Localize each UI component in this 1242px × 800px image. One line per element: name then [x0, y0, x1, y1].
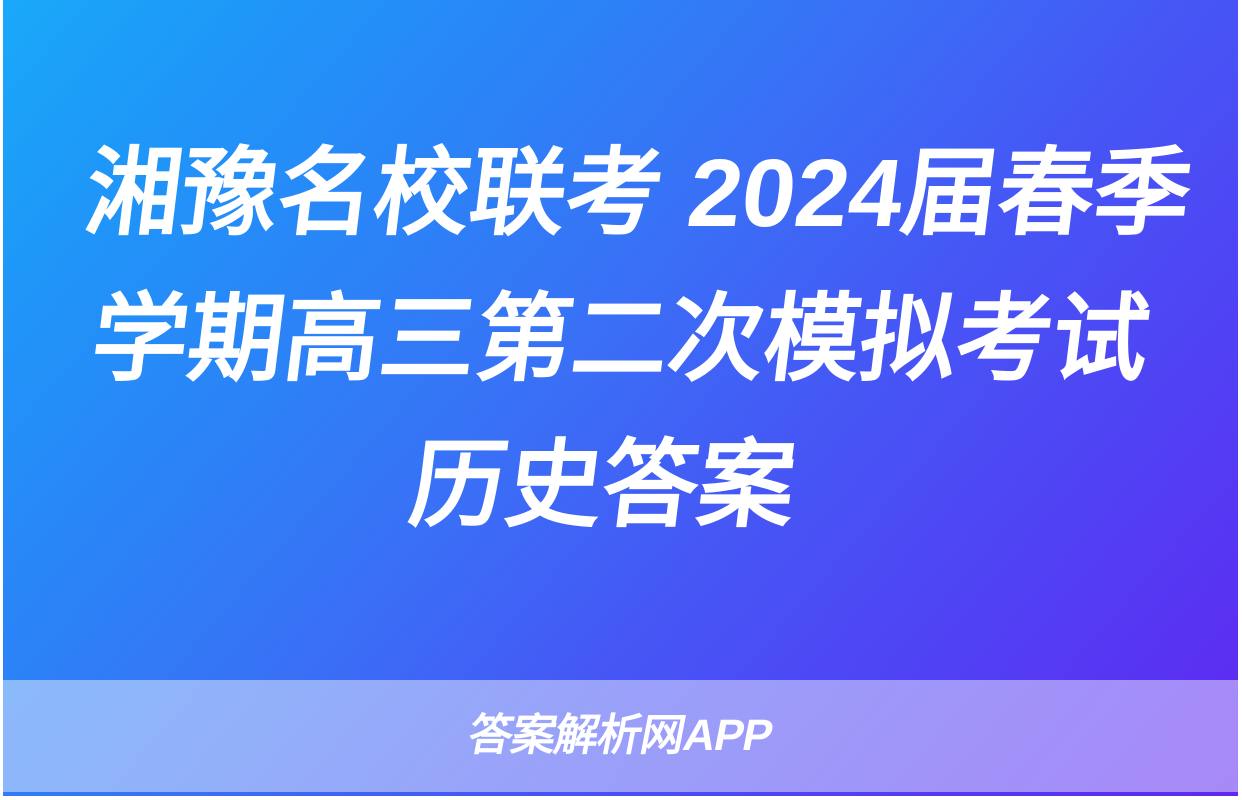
footer-watermark-band: 答案解析网APP	[3, 680, 1238, 792]
app-watermark-label: 答案解析网APP	[464, 711, 776, 761]
hero-title-area: 湘豫名校联考 2024届春季学期高三第二次模拟考试历史答案	[3, 0, 1238, 680]
answer-poster-card: 湘豫名校联考 2024届春季学期高三第二次模拟考试历史答案 答案解析网APP	[0, 0, 1242, 800]
page-title: 湘豫名校联考 2024届春季学期高三第二次模拟考试历史答案	[34, 121, 1207, 559]
